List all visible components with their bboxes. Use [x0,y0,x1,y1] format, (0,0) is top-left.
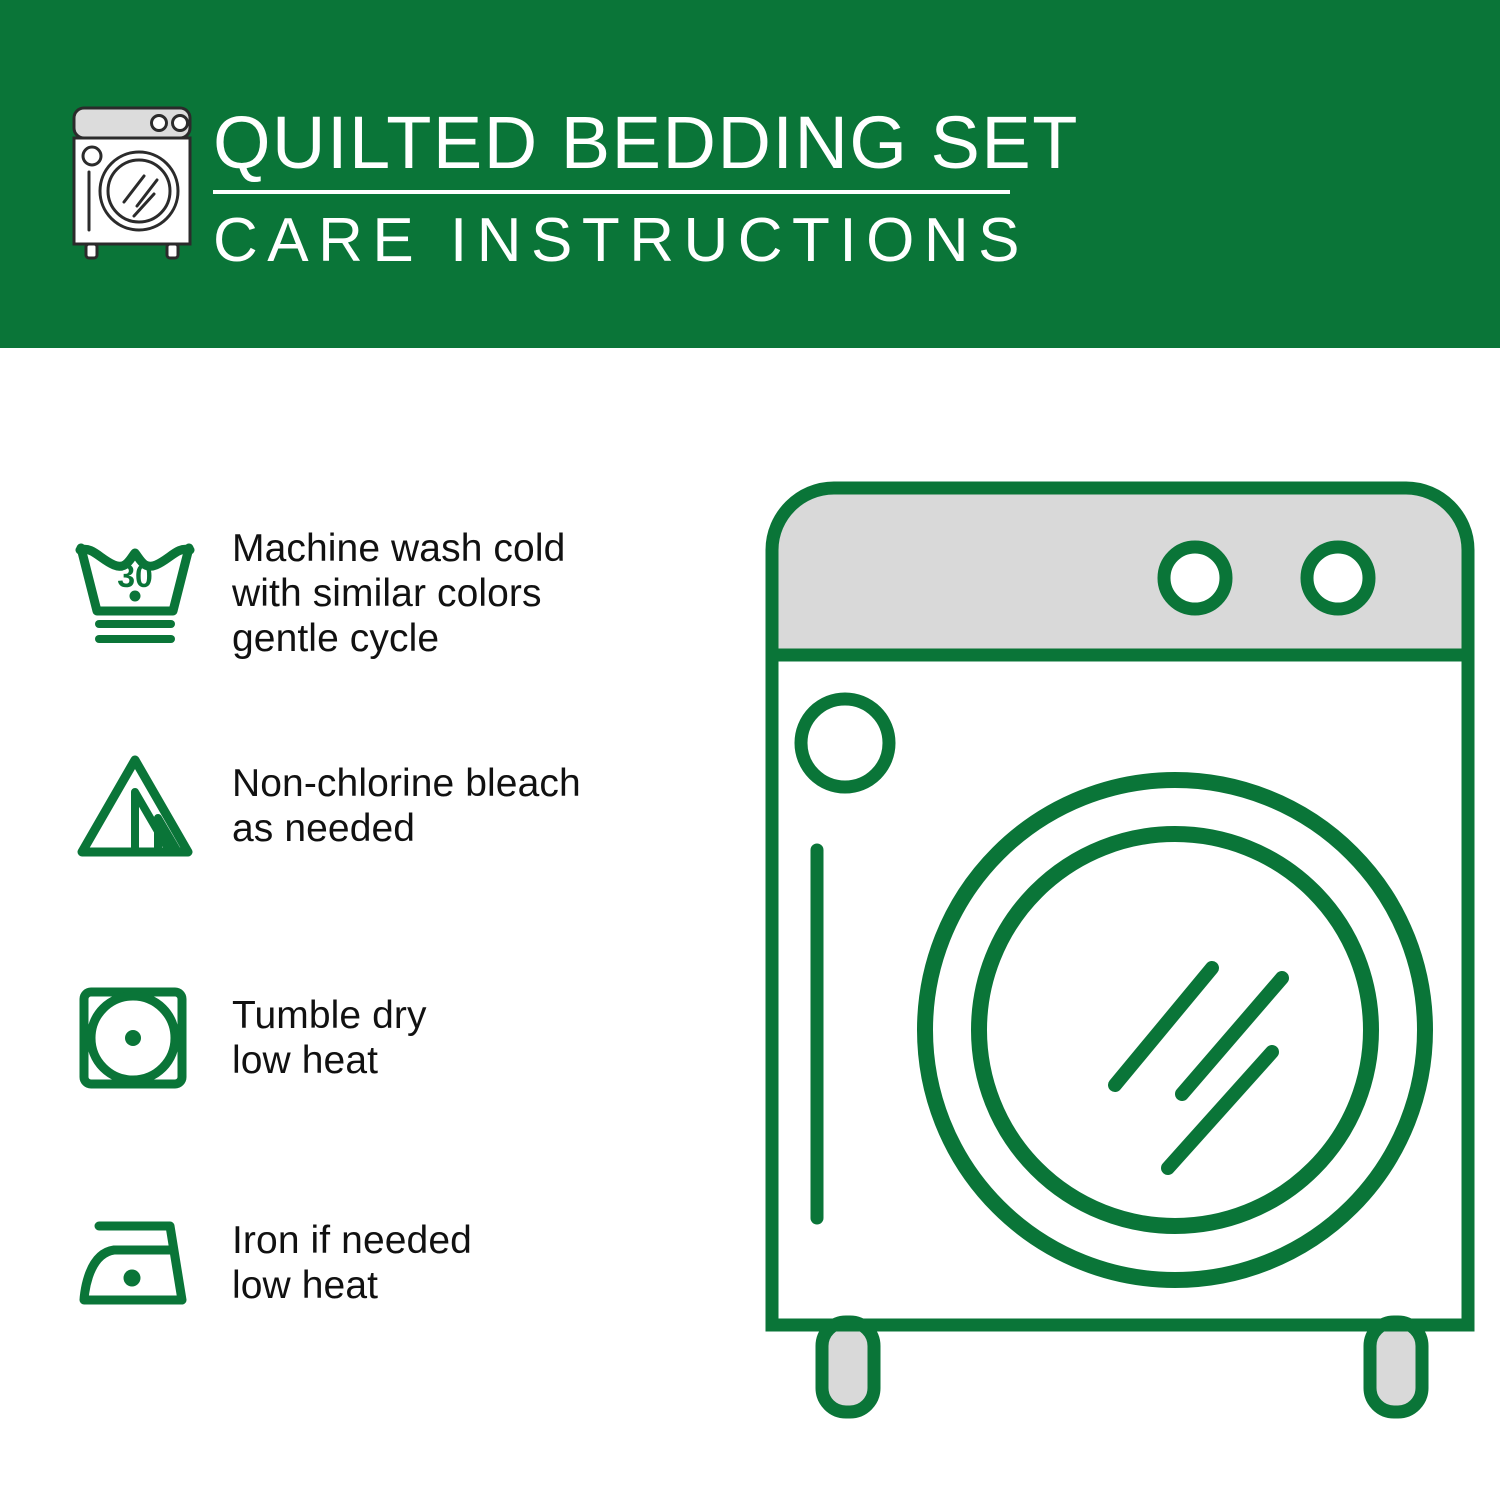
wash-tub-30-gentle-icon: 30 [0,508,200,678]
detergent-dispenser-circle [801,699,889,787]
front-load-washing-machine-illustration [740,460,1500,1440]
control-knob-right [1307,547,1369,609]
care-text-iron: Iron if needed low heat [200,1218,472,1308]
care-instruction-list: 30 Machine wash cold with similar colors… [0,348,740,1500]
header-title-block: QUILTED BEDDING SET CARE INSTRUCTIONS [213,100,1043,276]
care-text-bleach: Non-chlorine bleach as needed [200,761,581,851]
care-text-line: Machine wash cold [232,526,565,571]
care-row-tumble-dry: Tumble dry low heat [0,948,740,1128]
page-subtitle: CARE INSTRUCTIONS [213,206,1043,276]
care-text-line: low heat [232,1263,472,1308]
care-text-machine-wash: Machine wash cold with similar colors ge… [200,526,565,661]
care-text-line: as needed [232,806,581,851]
care-row-machine-wash: 30 Machine wash cold with similar colors… [0,498,740,688]
iron-low-heat-icon [0,1178,200,1348]
wash-temperature-value: 30 [117,558,153,594]
non-chlorine-bleach-triangle-icon [0,721,200,891]
tumble-dry-low-icon [0,953,200,1123]
care-text-tumble-dry: Tumble dry low heat [200,993,427,1083]
header-banner: QUILTED BEDDING SET CARE INSTRUCTIONS [0,0,1500,348]
care-row-iron: Iron if needed low heat [0,1178,740,1348]
care-text-line: low heat [232,1038,427,1083]
washing-machine-icon [62,104,202,264]
care-instructions-page: QUILTED BEDDING SET CARE INSTRUCTIONS 30 [0,0,1500,1500]
care-text-line: Non-chlorine bleach [232,761,581,806]
care-text-line: with similar colors [232,571,565,616]
care-text-line: Iron if needed [232,1218,472,1263]
leg-left [822,1322,874,1412]
page-title: QUILTED BEDDING SET [213,100,1043,186]
care-text-line: gentle cycle [232,616,565,661]
leg-right [1370,1322,1422,1412]
care-text-line: Tumble dry [232,993,427,1038]
title-divider [213,190,1010,194]
care-row-bleach: Non-chlorine bleach as needed [0,716,740,896]
control-knob-left [1164,547,1226,609]
